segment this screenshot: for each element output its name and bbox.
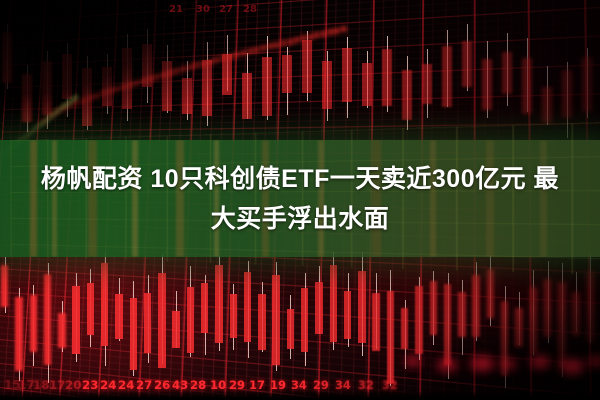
axis-tick-label-top: 28	[243, 4, 257, 15]
news-banner: 杨帆配资 10只科创债ETF一天卖近300亿元 最 大买手浮出水面 213027…	[0, 0, 600, 400]
axis-tick-label: 23	[82, 378, 98, 392]
axis-tick-label: 27	[136, 378, 152, 392]
axis-tick-label: 43	[172, 378, 188, 392]
axis-tick-label: 17	[49, 378, 66, 392]
headline-line-1: 杨帆配资 10只科创债ETF一天卖近300亿元 最	[41, 159, 559, 199]
headline-line-2: 大买手浮出水面	[211, 199, 390, 239]
axis-tick-label: 24	[118, 378, 134, 392]
axis-tick-label: 34	[335, 379, 351, 392]
axis-tick-label-top: 27	[219, 4, 233, 15]
bottom-edge	[0, 392, 600, 400]
axis-tick-label: 17	[249, 378, 265, 392]
axis-tick-label-top: 30	[196, 4, 210, 15]
axis-tick-label: 29	[229, 378, 245, 392]
axis-tick-label: 20	[65, 378, 82, 392]
axis-tick-label: 28	[190, 378, 206, 392]
axis-glow-dot	[588, 356, 600, 366]
axis-glow-dot	[405, 356, 421, 366]
axis-tick-label: 29	[313, 378, 329, 392]
axis-tick-label: 34	[291, 378, 307, 392]
axis-tick-label: 10	[210, 378, 226, 392]
axis-bottom-labels: 1517181720232424272643281029171934293432…	[0, 366, 600, 392]
axis-tick-label: 24	[100, 378, 116, 392]
axis-tick-label: 26	[154, 378, 170, 392]
headline: 杨帆配资 10只科创债ETF一天卖近300亿元 最 大买手浮出水面	[0, 140, 600, 257]
axis-tick-label: 18	[33, 378, 50, 392]
axis-tick-label-top: 21	[169, 4, 183, 15]
axis-top-labels: 21302728	[0, 4, 600, 22]
axis-tick-label: 32	[382, 379, 398, 392]
axis-tick-label: 32	[358, 379, 374, 392]
axis-tick-label: 19	[270, 378, 286, 392]
